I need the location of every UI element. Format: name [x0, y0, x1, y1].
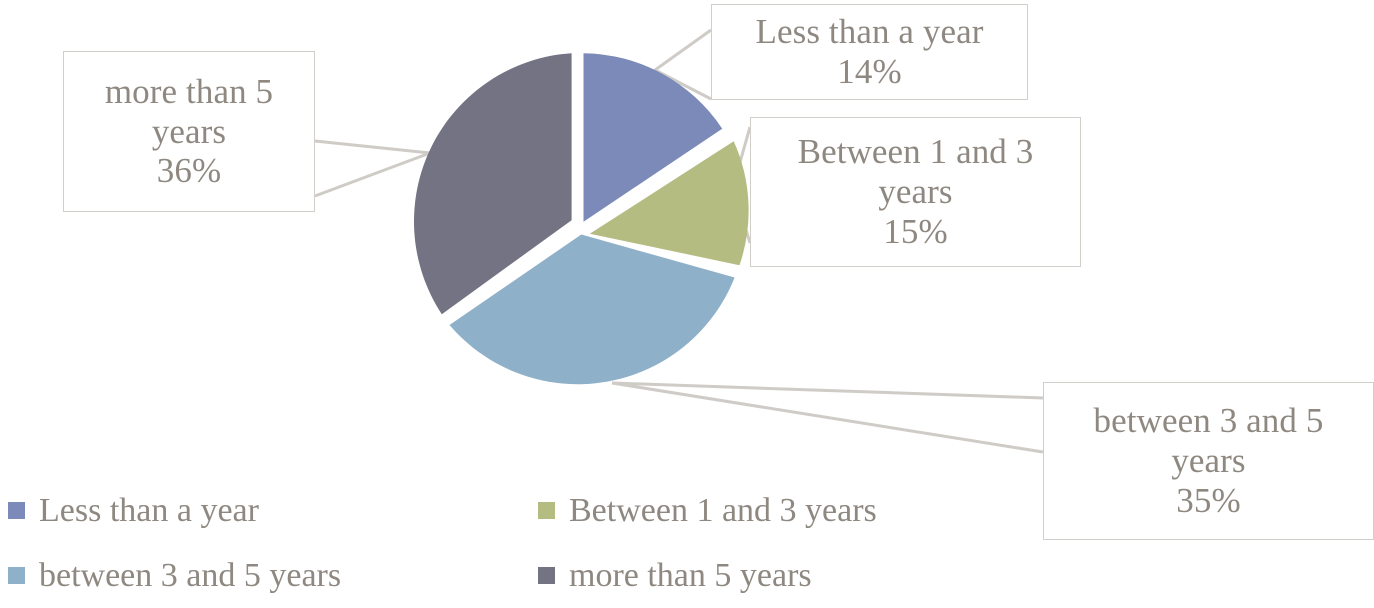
callout-label-line1: between 3 and 5 [1094, 401, 1324, 441]
callout-value: 36% [157, 151, 221, 191]
legend-item-label: Between 1 and 3 years [569, 492, 877, 530]
callout-less-than-a-year: Less than a year 14% [711, 4, 1028, 100]
pie-chart-figure: Less than a year 14% more than 5 years 3… [0, 0, 1374, 608]
callout-value: 35% [1176, 481, 1240, 521]
legend-item-label: between 3 and 5 years [39, 557, 341, 595]
callout-label-line2: years [878, 172, 952, 212]
callout-value: 15% [883, 212, 947, 252]
legend-item-between-3-and-5-years[interactable]: between 3 and 5 years [0, 557, 530, 595]
legend-swatch-icon [8, 567, 25, 584]
callout-between-1-and-3-years: Between 1 and 3 years 15% [750, 117, 1081, 267]
legend-item-more-than-5-years[interactable]: more than 5 years [530, 557, 1010, 595]
pie-slices [414, 53, 749, 384]
callout-label-line1: Between 1 and 3 [798, 132, 1034, 172]
legend-item-label: more than 5 years [569, 557, 812, 595]
legend-item-less-than-a-year[interactable]: Less than a year [0, 492, 530, 530]
callout-value: 14% [837, 52, 901, 92]
callout-label-line1: more than 5 [105, 72, 273, 112]
legend-swatch-icon [8, 502, 25, 519]
legend-swatch-icon [538, 502, 555, 519]
chart-legend: Less than a year Between 1 and 3 years b… [0, 478, 1010, 608]
callout-label: Less than a year [755, 12, 983, 52]
legend-item-label: Less than a year [39, 492, 259, 530]
callout-label-line2: years [1171, 441, 1245, 481]
legend-item-between-1-and-3-years[interactable]: Between 1 and 3 years [530, 492, 1010, 530]
leader-line-between-3-and-5-years [612, 383, 1043, 452]
leader-line-more-than-5-years [315, 141, 430, 196]
legend-swatch-icon [538, 567, 555, 584]
callout-label-line2: years [152, 112, 226, 152]
callout-more-than-5-years: more than 5 years 36% [63, 51, 315, 212]
callout-between-3-and-5-years: between 3 and 5 years 35% [1043, 382, 1374, 540]
